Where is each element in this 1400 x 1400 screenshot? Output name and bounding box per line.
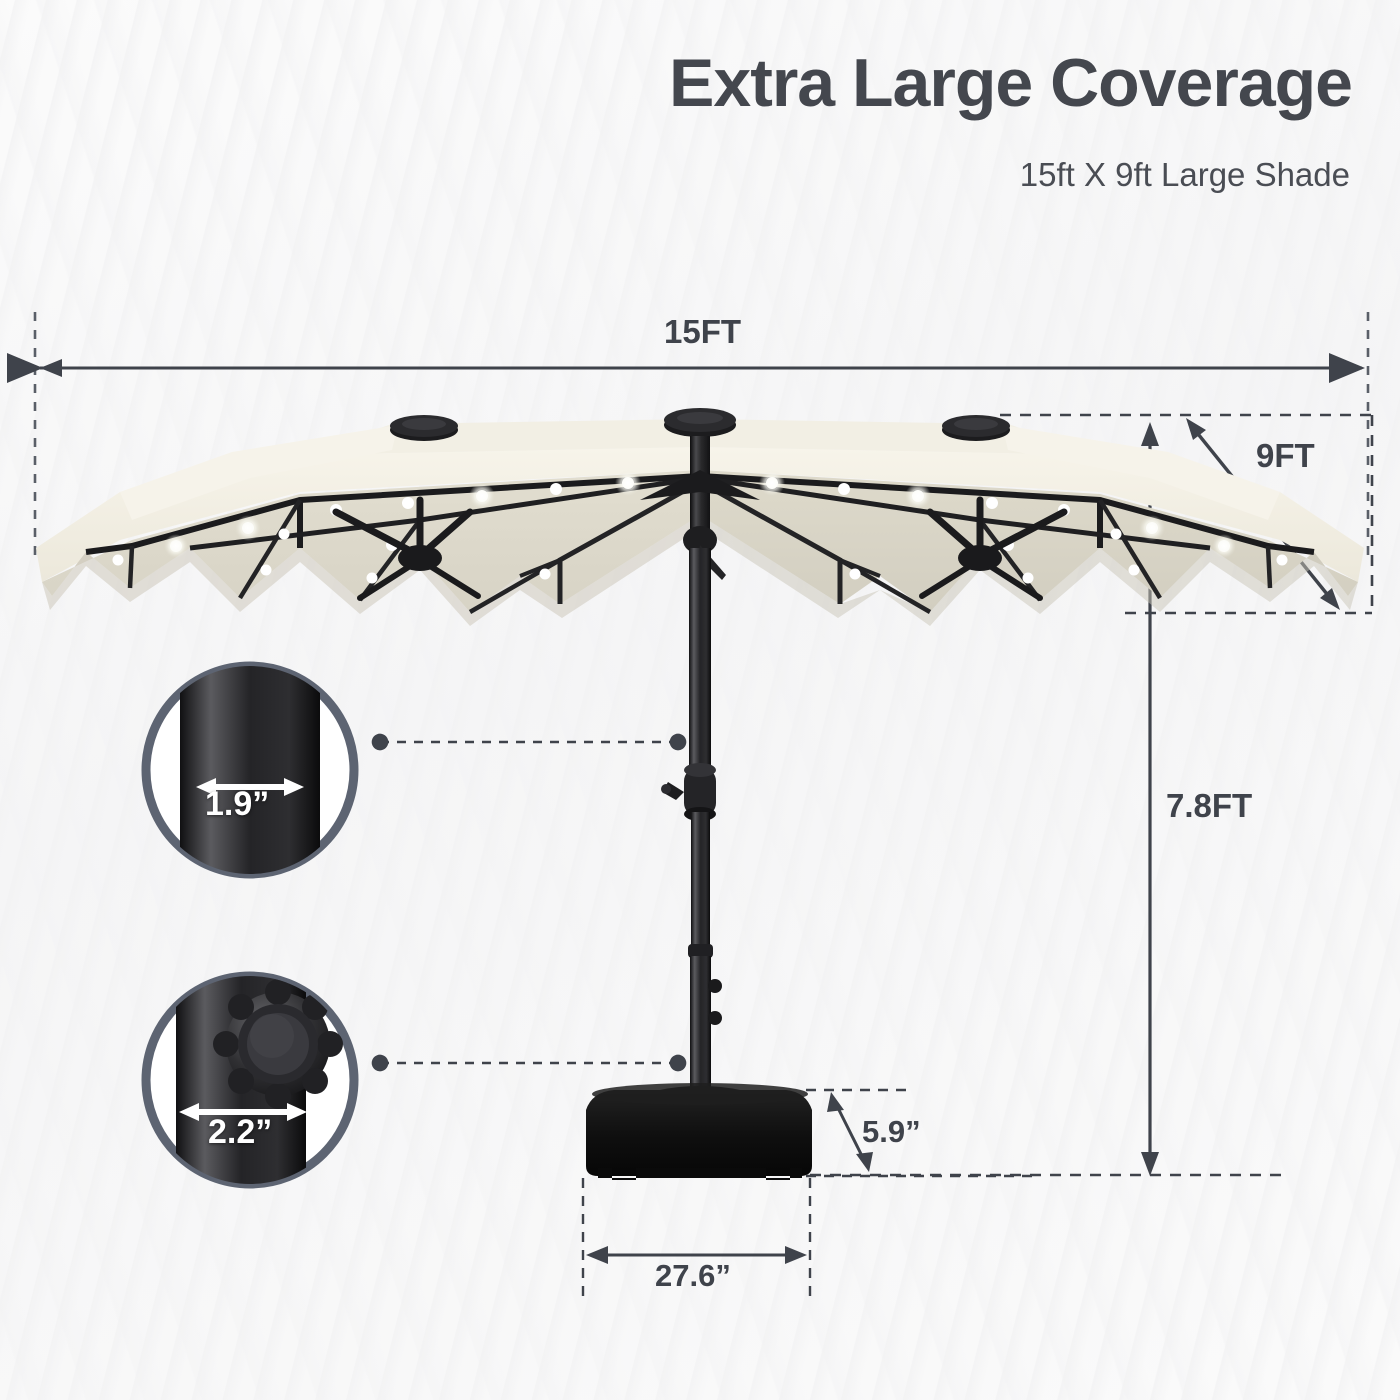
- callout-pole-diameter: [146, 655, 678, 882]
- dimension-label-height: 7.8FT: [1166, 787, 1252, 825]
- dimension-label-width: 15FT: [664, 313, 741, 351]
- crank-knob: [213, 979, 343, 1109]
- callout-label-crank-diameter: 2.2”: [208, 1113, 272, 1152]
- diagram-canvas: [0, 0, 1400, 1400]
- dimension-label-base-height: 5.9”: [862, 1114, 921, 1150]
- callout-label-pole-diameter: 1.9”: [205, 785, 269, 824]
- product-dimension-diagram: Extra Large Coverage 15ft X 9ft Large Sh…: [0, 0, 1400, 1400]
- dimension-base-height: [806, 1090, 1040, 1176]
- dimension-label-base-width: 27.6”: [655, 1258, 731, 1294]
- dimension-label-depth: 9FT: [1256, 437, 1315, 475]
- umbrella-base: [586, 1083, 812, 1180]
